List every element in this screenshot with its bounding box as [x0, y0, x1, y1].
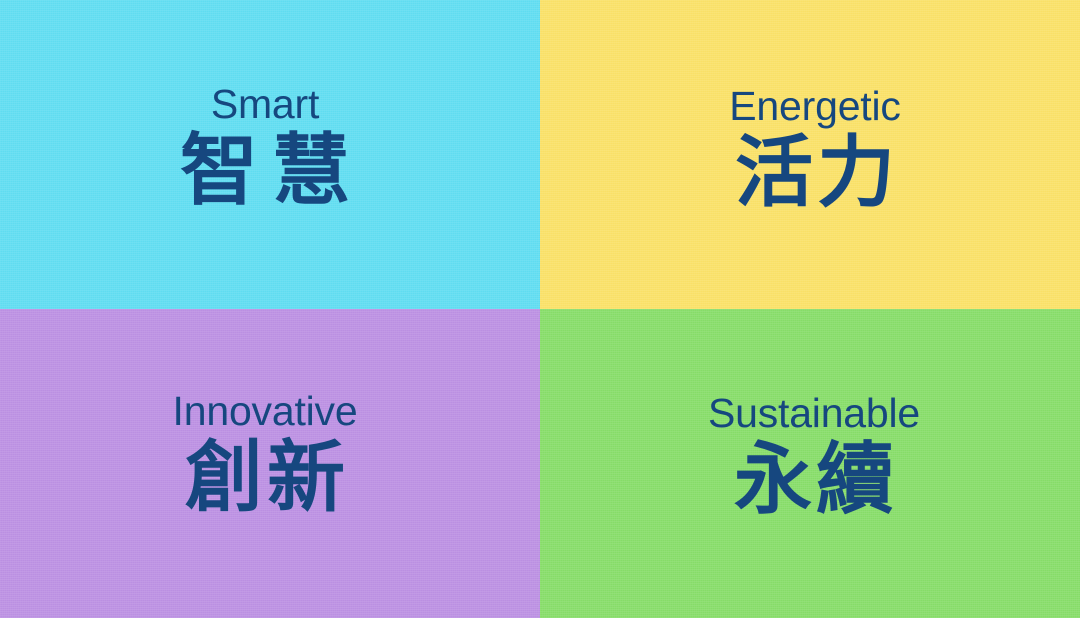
english-label-energetic: Energetic: [729, 86, 900, 127]
quadrant-sustainable[interactable]: Sustainable 永續: [540, 309, 1080, 618]
label-block-energetic: Energetic 活力: [729, 86, 900, 211]
quadrant-innovative[interactable]: Innovative 創新: [0, 309, 540, 618]
label-block-innovative: Innovative 創新: [173, 391, 358, 516]
chinese-label-smart: 智慧: [166, 131, 364, 209]
quadrant-grid: Smart 智慧 Energetic 活力 Innovative 創新 Sust…: [0, 0, 1080, 618]
chinese-label-innovative: 創新: [181, 438, 349, 516]
label-block-sustainable: Sustainable 永續: [708, 393, 920, 518]
chinese-label-energetic: 活力: [731, 133, 899, 211]
english-label-sustainable: Sustainable: [708, 393, 920, 434]
english-label-smart: Smart: [211, 84, 319, 125]
chinese-label-sustainable: 永續: [730, 440, 898, 518]
english-label-innovative: Innovative: [173, 391, 358, 432]
quadrant-energetic[interactable]: Energetic 活力: [540, 0, 1080, 309]
label-block-smart: Smart 智慧: [166, 84, 364, 209]
quadrant-smart[interactable]: Smart 智慧: [0, 0, 540, 309]
